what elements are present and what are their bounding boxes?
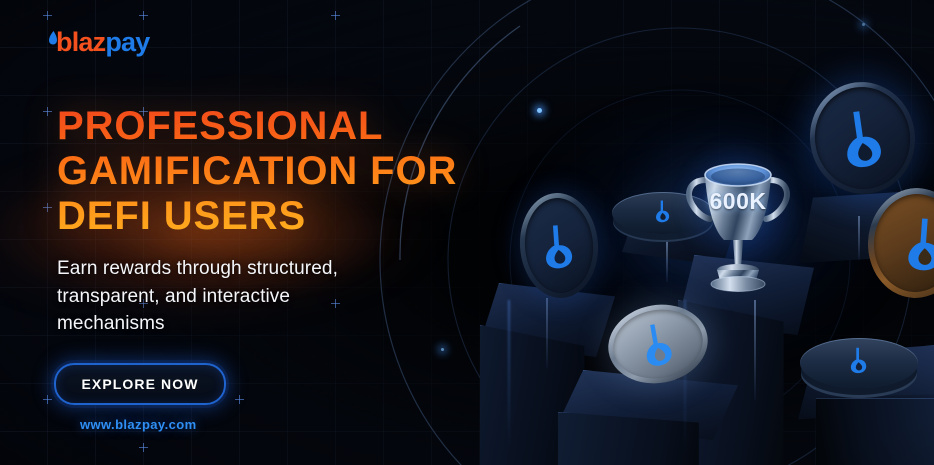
trophy-icon: 600K [683, 142, 793, 300]
podium-rim-light [508, 300, 510, 450]
flame-drop-icon [646, 199, 680, 223]
subheadline-line-3: mechanisms [57, 310, 457, 338]
explore-now-label: EXPLORE NOW [81, 376, 198, 392]
explore-now-button[interactable]: EXPLORE NOW [54, 363, 226, 405]
website-url[interactable]: www.blazpay.com [80, 417, 197, 432]
flame-drop-icon [832, 104, 892, 173]
trophy-coins-artwork: 600K [470, 0, 934, 465]
page-title: PROFESSIONAL GAMIFICATION FOR DEFI USERS [57, 104, 537, 240]
blazpay-logo[interactable]: blazpay [46, 27, 149, 57]
page-subtitle: Earn rewards through structured, transpa… [57, 255, 457, 338]
subheadline-line-2: transparent, and interactive [57, 283, 457, 311]
logo-text-blaz: blaz [56, 27, 105, 57]
headline-line-1: PROFESSIONAL [57, 104, 537, 149]
blazpay-promo-banner: 600K blazpay PROFESSIONAL GAMIFICATION F… [0, 0, 934, 465]
trophy-amount-label: 600K [683, 188, 793, 215]
flame-drop-icon [537, 218, 581, 273]
glow-particle [441, 348, 444, 351]
logo-wordmark: blazpay [56, 29, 149, 56]
coin-stand [546, 298, 548, 368]
blazpay-coin-icon [800, 338, 918, 388]
flame-drop-icon [46, 31, 57, 53]
flame-drop-icon [900, 213, 934, 274]
subheadline-line-1: Earn rewards through structured, [57, 255, 457, 283]
flame-drop-icon [840, 346, 878, 374]
headline-line-3: DEFI USERS [57, 194, 537, 239]
podium-right-body [816, 398, 934, 465]
logo-text-pay: pay [105, 27, 149, 57]
coin-stand [858, 216, 860, 260]
headline-line-2: GAMIFICATION FOR [57, 149, 537, 194]
